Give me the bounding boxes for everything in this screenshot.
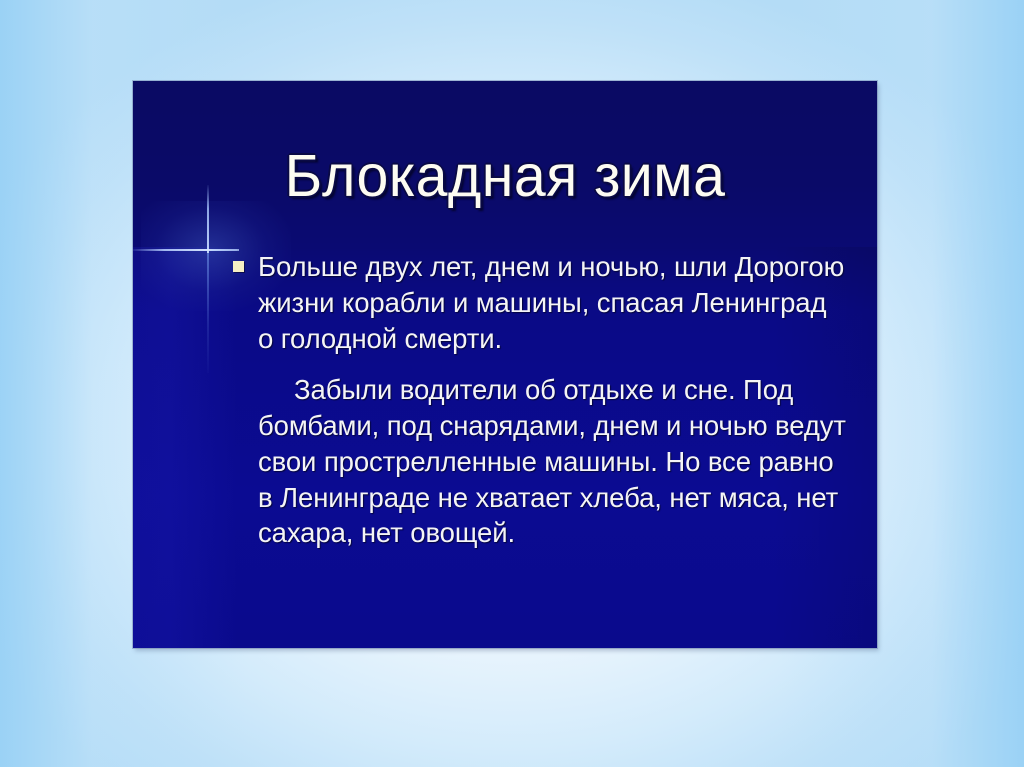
body-paragraph-1: Больше двух лет, днем и ночью, шли Дорог… bbox=[258, 249, 849, 356]
body-paragraph-2: Забыли водители об отдыхе и сне. Под бом… bbox=[258, 372, 849, 551]
square-bullet-icon bbox=[233, 261, 244, 272]
slide-content: Больше двух лет, днем и ночью, шли Дорог… bbox=[229, 249, 849, 551]
bullet-list-item: Больше двух лет, днем и ночью, шли Дорог… bbox=[229, 249, 849, 551]
presentation-page: Блокадная зима Больше двух лет, днем и н… bbox=[0, 0, 1024, 767]
slide-title: Блокадная зима bbox=[144, 145, 866, 209]
slide-canvas: Блокадная зима Больше двух лет, днем и н… bbox=[133, 81, 877, 648]
